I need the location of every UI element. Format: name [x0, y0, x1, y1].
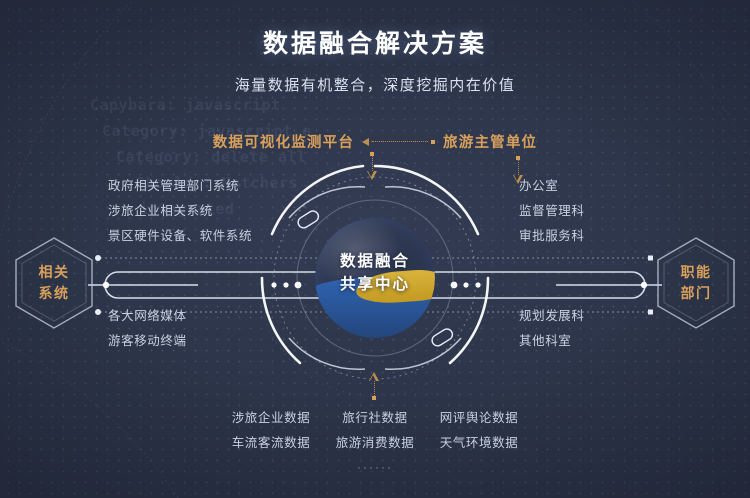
center-line-1: 数据融合	[245, 250, 505, 273]
data-grid-cell: 涉旅企业数据	[219, 406, 323, 431]
center-hub-label: 数据融合 共享中心	[245, 250, 505, 296]
data-grid-row: 涉旅企业数据 旅行社数据 网评舆论数据	[219, 406, 531, 431]
hexagon-left-line2: 系统	[39, 283, 70, 304]
data-grid-cell: 天气环境数据	[427, 431, 531, 456]
data-grid-more: ······	[357, 460, 393, 474]
hexagon-related-systems[interactable]: 相关 系统	[12, 235, 96, 331]
hexagon-left-line1: 相关	[39, 262, 70, 283]
header: 数据融合解决方案 海量数据有机整合，深度挖掘内在价值	[0, 24, 750, 95]
triangle-left-icon	[362, 138, 369, 146]
data-grid-cell: 网评舆论数据	[427, 406, 531, 431]
list-item: 监督管理科	[519, 199, 585, 224]
hexagon-right-line1: 职能	[681, 262, 712, 283]
endpoint-dot	[431, 140, 435, 144]
list-left-top: 政府相关管理部门系统 涉旅企业相关系统 景区硬件设备、软件系统	[108, 174, 252, 249]
data-source-grid: 涉旅企业数据 旅行社数据 网评舆论数据 车流客流数据 旅游消费数据 天气环境数据…	[0, 406, 750, 474]
infographic-canvas: Capybara: javascript Category: javascrip…	[0, 0, 750, 498]
dotted-line	[372, 141, 428, 142]
connector-dotted-line	[518, 160, 519, 175]
center-line-2: 共享中心	[245, 273, 505, 296]
list-item: 涉旅企业相关系统	[108, 199, 252, 224]
arrow-left-dotted-icon	[362, 138, 435, 146]
hexagon-right-label: 职能 部门	[681, 262, 712, 304]
center-hub: 数据融合 共享中心	[245, 148, 505, 408]
data-grid-row: 车流客流数据 旅游消费数据 天气环境数据	[219, 431, 531, 456]
list-item: 游客移动终端	[108, 329, 187, 354]
connector-dot	[372, 396, 376, 400]
list-left-bottom: 各大网络媒体 游客移动终端	[108, 304, 187, 354]
data-grid-cell: 车流客流数据	[219, 431, 323, 456]
list-item: 政府相关管理部门系统	[108, 174, 252, 199]
hexagon-left-label: 相关 系统	[39, 262, 70, 304]
list-right-top: 办公室 监督管理科 审批服务科	[519, 174, 585, 249]
list-item: 各大网络媒体	[108, 304, 187, 329]
list-item: 景区硬件设备、软件系统	[108, 224, 252, 249]
data-grid-cell: 旅游消费数据	[323, 431, 427, 456]
page-title: 数据融合解决方案	[0, 24, 750, 60]
list-item: 审批服务科	[519, 224, 585, 249]
connector-dotted-line	[374, 381, 375, 396]
list-item: 办公室	[519, 174, 585, 199]
list-right-bottom: 规划发展科 其他科室	[519, 304, 585, 354]
data-grid-cell: 旅行社数据	[323, 406, 427, 431]
connector-bottom-data	[368, 372, 380, 400]
hexagon-right-line2: 部门	[681, 283, 712, 304]
triangle-up-icon	[369, 372, 380, 381]
hexagon-functional-departments[interactable]: 职能 部门	[654, 235, 738, 331]
page-subtitle: 海量数据有机整合，深度挖掘内在价值	[0, 74, 750, 95]
list-item: 其他科室	[519, 329, 585, 354]
list-item: 规划发展科	[519, 304, 585, 329]
